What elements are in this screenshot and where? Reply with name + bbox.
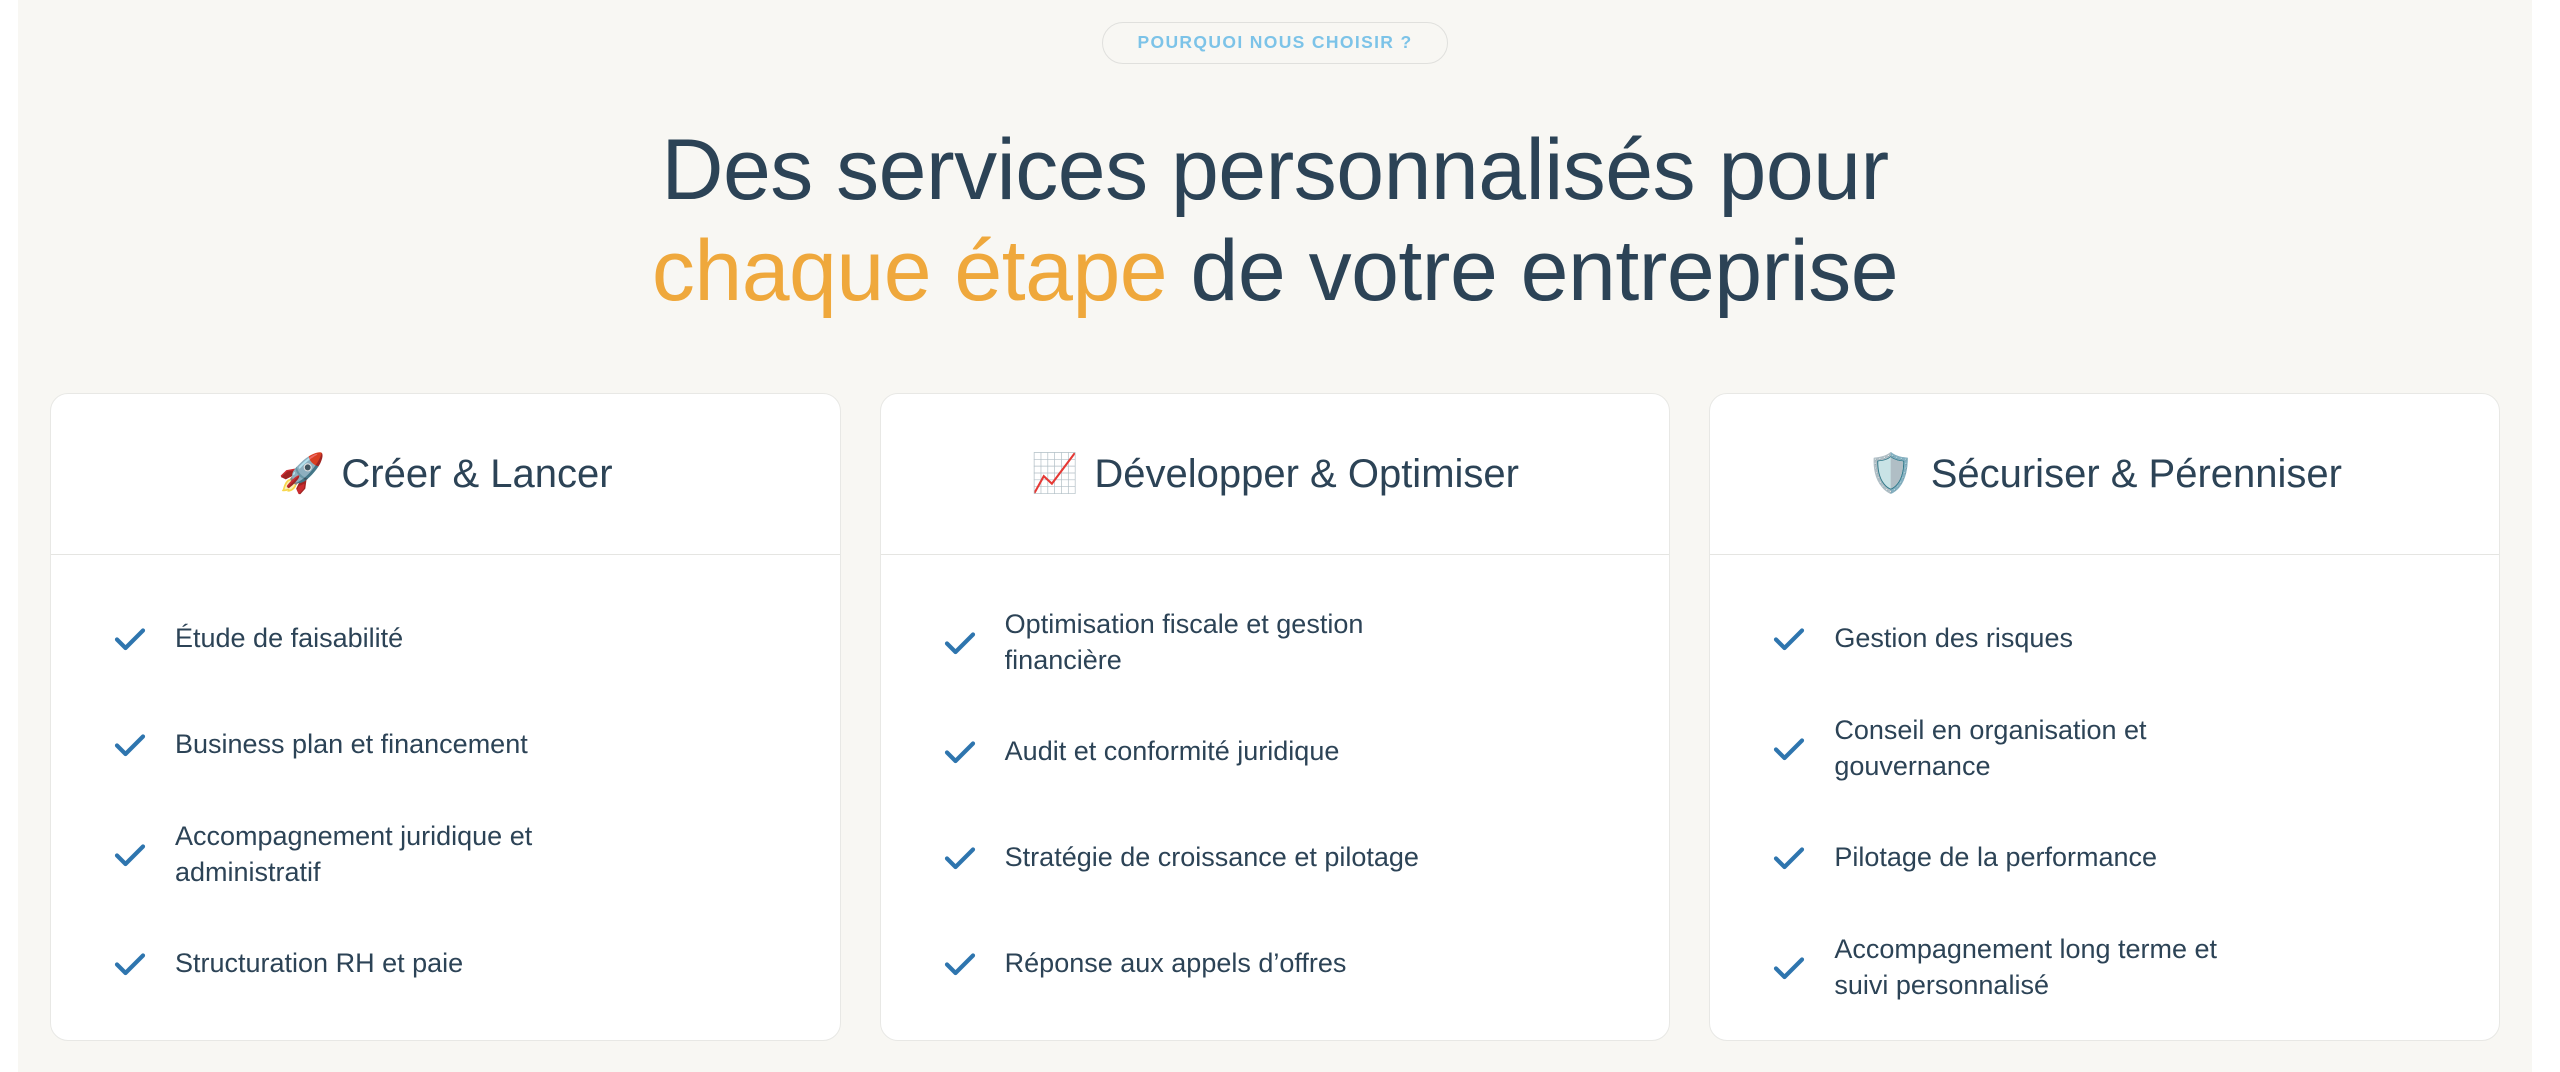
check-icon: [111, 836, 149, 874]
heading-line-2-rest: de votre entreprise: [1167, 223, 1898, 319]
card-feature-list: Gestion des risques Conseil en organisat…: [1710, 555, 2499, 1040]
page-root: POURQUOI NOUS CHOISIR ? Des services per…: [0, 0, 2560, 1072]
card-title: Développer & Optimiser: [1094, 450, 1519, 498]
card-feature-list: Étude de faisabilité Business plan et fi…: [51, 555, 840, 1040]
list-item: Stratégie de croissance et pilotage: [941, 826, 1610, 890]
card-header: 🛡️ Sécuriser & Pérenniser: [1710, 394, 2499, 555]
check-icon: [111, 726, 149, 764]
list-item: Conseil en organisation et gouvernance: [1770, 713, 2439, 784]
list-item-label: Accompagnement juridique et administrati…: [175, 819, 615, 890]
list-item-label: Business plan et financement: [175, 727, 528, 763]
card-header: 🚀 Créer & Lancer: [51, 394, 840, 555]
check-icon: [1770, 839, 1808, 877]
list-item-label: Structuration RH et paie: [175, 946, 463, 982]
list-item: Accompagnement long terme et suivi perso…: [1770, 932, 2439, 1003]
check-icon: [1770, 730, 1808, 768]
service-card-developper-optimiser: 📈 Développer & Optimiser Optimisation fi…: [880, 393, 1671, 1041]
list-item: Accompagnement juridique et administrati…: [111, 819, 780, 890]
list-item: Optimisation fiscale et gestion financiè…: [941, 607, 1610, 678]
list-item: Business plan et financement: [111, 713, 780, 777]
heading-accent: chaque étape: [652, 223, 1167, 319]
card-header: 📈 Développer & Optimiser: [881, 394, 1670, 555]
service-card-creer-lancer: 🚀 Créer & Lancer Étude de faisabilité: [50, 393, 841, 1041]
service-card-securiser-perenniser: 🛡️ Sécuriser & Pérenniser Gestion des ri…: [1709, 393, 2500, 1041]
eyebrow-badge: POURQUOI NOUS CHOISIR ?: [1102, 22, 1447, 64]
eyebrow-badge-row: POURQUOI NOUS CHOISIR ?: [18, 22, 2532, 64]
list-item: Réponse aux appels d’offres: [941, 932, 1610, 996]
list-item: Audit et conformité juridique: [941, 720, 1610, 784]
list-item-label: Gestion des risques: [1834, 621, 2073, 657]
card-title: Créer & Lancer: [341, 450, 612, 498]
service-cards: 🚀 Créer & Lancer Étude de faisabilité: [50, 393, 2500, 1041]
list-item-label: Pilotage de la performance: [1834, 840, 2157, 876]
list-item-label: Accompagnement long terme et suivi perso…: [1834, 932, 2274, 1003]
card-feature-list: Optimisation fiscale et gestion financiè…: [881, 555, 1670, 1040]
check-icon: [941, 839, 979, 877]
list-item: Gestion des risques: [1770, 607, 2439, 671]
list-item: Pilotage de la performance: [1770, 826, 2439, 890]
list-item-label: Étude de faisabilité: [175, 621, 403, 657]
list-item-label: Réponse aux appels d’offres: [1005, 946, 1347, 982]
check-icon: [941, 945, 979, 983]
shield-emoji: 🛡️: [1867, 455, 1914, 493]
page-title: Des services personnalisés pour chaque é…: [18, 120, 2532, 321]
chart-increasing-emoji: 📈: [1031, 455, 1078, 493]
check-icon: [941, 624, 979, 662]
check-icon: [1770, 949, 1808, 987]
check-icon: [111, 620, 149, 658]
check-icon: [111, 945, 149, 983]
list-item-label: Optimisation fiscale et gestion financiè…: [1005, 607, 1445, 678]
check-icon: [941, 733, 979, 771]
why-choose-us-section: POURQUOI NOUS CHOISIR ? Des services per…: [18, 0, 2532, 1072]
list-item-label: Stratégie de croissance et pilotage: [1005, 840, 1419, 876]
list-item: Structuration RH et paie: [111, 932, 780, 996]
heading-line-1: Des services personnalisés pour: [661, 122, 1888, 218]
list-item: Étude de faisabilité: [111, 607, 780, 671]
check-icon: [1770, 620, 1808, 658]
rocket-emoji: 🚀: [278, 455, 325, 493]
card-title: Sécuriser & Pérenniser: [1931, 450, 2342, 498]
list-item-label: Conseil en organisation et gouvernance: [1834, 713, 2274, 784]
list-item-label: Audit et conformité juridique: [1005, 734, 1340, 770]
